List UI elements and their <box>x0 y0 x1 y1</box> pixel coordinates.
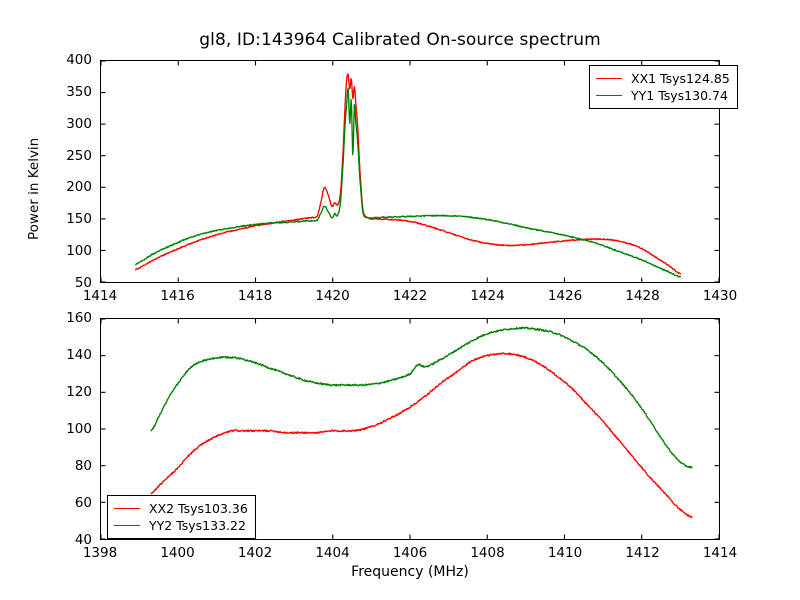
legend-item: YY1 Tsys130.74 <box>596 87 730 104</box>
x-tick-label: 1428 <box>625 288 659 304</box>
x-tick-label: 1420 <box>315 288 349 304</box>
series-line <box>136 88 681 277</box>
legend-label-yy1: YY1 Tsys130.74 <box>631 88 728 103</box>
y-tick-label: 80 <box>0 458 92 474</box>
x-tick-label: 1406 <box>393 545 427 561</box>
legend-line-swatch-yy2 <box>114 525 140 526</box>
x-tick-label: 1402 <box>238 545 272 561</box>
x-tick-label: 1416 <box>160 288 194 304</box>
legend-item: XX2 Tsys103.36 <box>114 500 248 517</box>
y-tick-label: 400 <box>0 52 92 68</box>
y-tick-label: 100 <box>0 243 92 259</box>
y-tick-label: 250 <box>0 148 92 164</box>
x-tick-label: 1408 <box>470 545 504 561</box>
x-tick-label: 1398 <box>83 545 117 561</box>
x-tick-label: 1410 <box>548 545 582 561</box>
y-tick-label: 150 <box>0 211 92 227</box>
legend-label-xx1: XX1 Tsys124.85 <box>631 71 730 86</box>
series-line <box>151 353 692 517</box>
y-tick-label: 350 <box>0 84 92 100</box>
top-panel-legend: XX1 Tsys124.85 YY1 Tsys130.74 <box>589 65 738 109</box>
y-tick-label: 100 <box>0 421 92 437</box>
bottom-panel-legend: XX2 Tsys103.36 YY2 Tsys133.22 <box>107 495 256 539</box>
x-tick-label: 1412 <box>625 545 659 561</box>
y-tick-label: 120 <box>0 384 92 400</box>
y-tick-label: 50 <box>0 275 92 291</box>
y-tick-label: 60 <box>0 495 92 511</box>
y-tick-label: 160 <box>0 310 92 326</box>
x-tick-label: 1430 <box>703 288 737 304</box>
x-tick-label: 1404 <box>315 545 349 561</box>
y-tick-label: 40 <box>0 532 92 548</box>
spectrum-figure: gl8, ID:143964 Calibrated On-source spec… <box>0 0 800 600</box>
legend-label-yy2: YY2 Tsys133.22 <box>149 518 246 533</box>
series-line <box>151 327 692 468</box>
x-tick-label: 1422 <box>393 288 427 304</box>
y-tick-label: 140 <box>0 347 92 363</box>
x-tick-label: 1414 <box>83 288 117 304</box>
legend-line-swatch-yy1 <box>596 95 622 96</box>
page-title: gl8, ID:143964 Calibrated On-source spec… <box>0 30 800 50</box>
bottom-panel-x-axis-label: Frequency (MHz) <box>100 564 720 580</box>
legend-line-swatch-xx1 <box>596 78 622 79</box>
legend-line-swatch-xx2 <box>114 508 140 509</box>
x-tick-label: 1418 <box>238 288 272 304</box>
y-tick-label: 200 <box>0 179 92 195</box>
y-tick-label: 300 <box>0 116 92 132</box>
x-tick-label: 1414 <box>703 545 737 561</box>
legend-item: XX1 Tsys124.85 <box>596 70 730 87</box>
legend-item: YY2 Tsys133.22 <box>114 517 248 534</box>
x-tick-label: 1400 <box>160 545 194 561</box>
legend-label-xx2: XX2 Tsys103.36 <box>149 501 248 516</box>
x-tick-label: 1424 <box>470 288 504 304</box>
x-tick-label: 1426 <box>548 288 582 304</box>
